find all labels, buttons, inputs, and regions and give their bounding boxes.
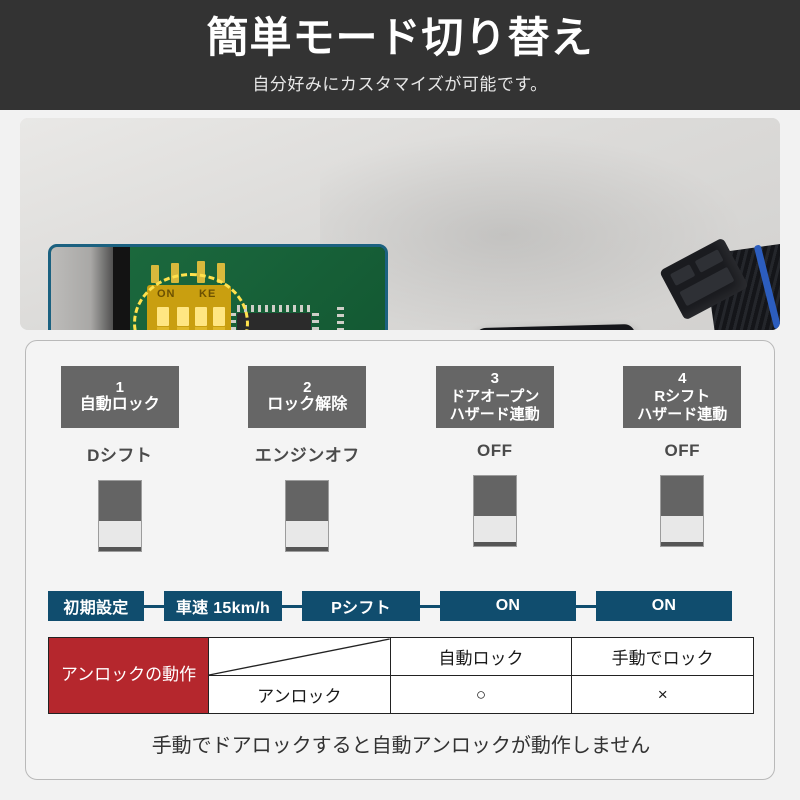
- dip-toggle-base-3: [474, 542, 516, 546]
- inset-pin-row-far: [337, 307, 344, 330]
- dip-toggle-2[interactable]: [285, 480, 329, 552]
- switch-column-2: 2 ロック解除 エンジンオフ: [237, 366, 377, 552]
- dip-toggle-1[interactable]: [98, 480, 142, 552]
- switch-column-3: 3 ドアオープン ハザード連動 OFF: [425, 366, 565, 547]
- switch-number-1: 1: [116, 379, 124, 397]
- table-row-label-unlock: アンロック: [209, 676, 391, 714]
- switch-name-2: ロック解除: [267, 396, 347, 415]
- switch-cards-row: 1 自動ロック Dシフト 2 ロック解除 エンジンオフ: [26, 366, 776, 552]
- table-col-header-manual: 手動でロック: [572, 638, 754, 676]
- dip-toggle-4[interactable]: [660, 475, 704, 547]
- dip-toggle-slider-2: [286, 521, 328, 547]
- switch-card-3[interactable]: 3 ドアオープン ハザード連動: [436, 366, 554, 428]
- bar-dash-4: [576, 605, 596, 608]
- switch-name-4-line2: ハザード連動: [637, 406, 727, 424]
- panel-footnote: 手動でドアロックすると自動アンロックが動作しません: [26, 729, 776, 758]
- dip-toggle-3[interactable]: [473, 475, 517, 547]
- diagonal-line-icon: [209, 638, 390, 676]
- dip-toggle-base-4: [661, 542, 703, 546]
- default-settings-bar-row: 初期設定 車速 15km/h Pシフト ON ON: [48, 591, 754, 621]
- page-title: 簡単モード切り替え: [206, 15, 593, 61]
- bar-dash-2: [282, 605, 302, 608]
- bar-dash-1: [144, 605, 164, 608]
- table-row: アンロックの動作 自動ロック 手動でロック: [49, 638, 754, 676]
- inset-chip-pins-top: [237, 305, 311, 312]
- switch-name-3-line2: ハザード連動: [450, 406, 540, 424]
- inset-chip-pins-right: [312, 313, 319, 330]
- settings-panel: 1 自動ロック Dシフト 2 ロック解除 エンジンオフ: [25, 340, 775, 780]
- table-row-header: アンロックの動作: [49, 638, 209, 714]
- unlock-behavior-table: アンロックの動作 自動ロック 手動でロック アンロック ○ ×: [48, 637, 754, 714]
- switch-state-3: OFF: [477, 441, 513, 461]
- switch-name-1: 自動ロック: [80, 396, 160, 415]
- inset-black-bar: [113, 247, 130, 330]
- dip-toggle-slider-1: [99, 521, 141, 547]
- switch-number-3: 3: [491, 370, 499, 388]
- switch-name-4: Rシフト: [654, 388, 710, 406]
- bar-pshift: Pシフト: [302, 591, 420, 621]
- page-subtitle: 自分好みにカスタマイズが可能です。: [252, 70, 547, 95]
- switch-number-4: 4: [678, 370, 686, 388]
- switch-column-4: 4 Rシフト ハザード連動 OFF: [612, 366, 752, 547]
- dip-toggle-base-2: [286, 547, 328, 551]
- header-banner: 簡単モード切り替え 自分好みにカスタマイズが可能です。: [0, 0, 800, 110]
- switch-card-2[interactable]: 2 ロック解除: [248, 366, 366, 428]
- dip-toggle-slider-3: [474, 516, 516, 542]
- switch-card-4[interactable]: 4 Rシフト ハザード連動: [623, 366, 741, 428]
- bar-dash-3: [420, 605, 440, 608]
- table-value-manual: ×: [572, 676, 754, 714]
- switch-state-1: Dシフト: [87, 441, 152, 466]
- switch-state-2: エンジンオフ: [255, 441, 360, 466]
- bar-on-1: ON: [440, 591, 576, 621]
- table-value-auto: ○: [390, 676, 572, 714]
- infographic-page: 簡単モード切り替え 自分好みにカスタマイズが可能です。: [0, 0, 800, 800]
- switch-name-3: ドアオープン: [450, 388, 539, 406]
- bar-speed: 車速 15km/h: [164, 591, 282, 621]
- table-col-header-auto: 自動ロック: [390, 638, 572, 676]
- dip-toggle-slider-4: [661, 516, 703, 542]
- dip-toggle-base-1: [99, 547, 141, 551]
- bar-on-2: ON: [596, 591, 732, 621]
- bar-initial-setting: 初期設定: [48, 591, 144, 621]
- switch-state-4: OFF: [665, 441, 701, 461]
- switch-column-1: 1 自動ロック Dシフト: [50, 366, 190, 552]
- dip-switch-inset: ON KE 1 2 3 4 本体カバーの先: [48, 244, 388, 330]
- table-diagonal-cell: [209, 638, 391, 676]
- inset-pcb-photo: ON KE 1 2 3 4: [51, 247, 385, 330]
- product-photo-section: ON KE 1 2 3 4 本体カバーの先: [20, 118, 780, 330]
- switch-card-1[interactable]: 1 自動ロック: [61, 366, 179, 428]
- switch-number-2: 2: [303, 379, 311, 397]
